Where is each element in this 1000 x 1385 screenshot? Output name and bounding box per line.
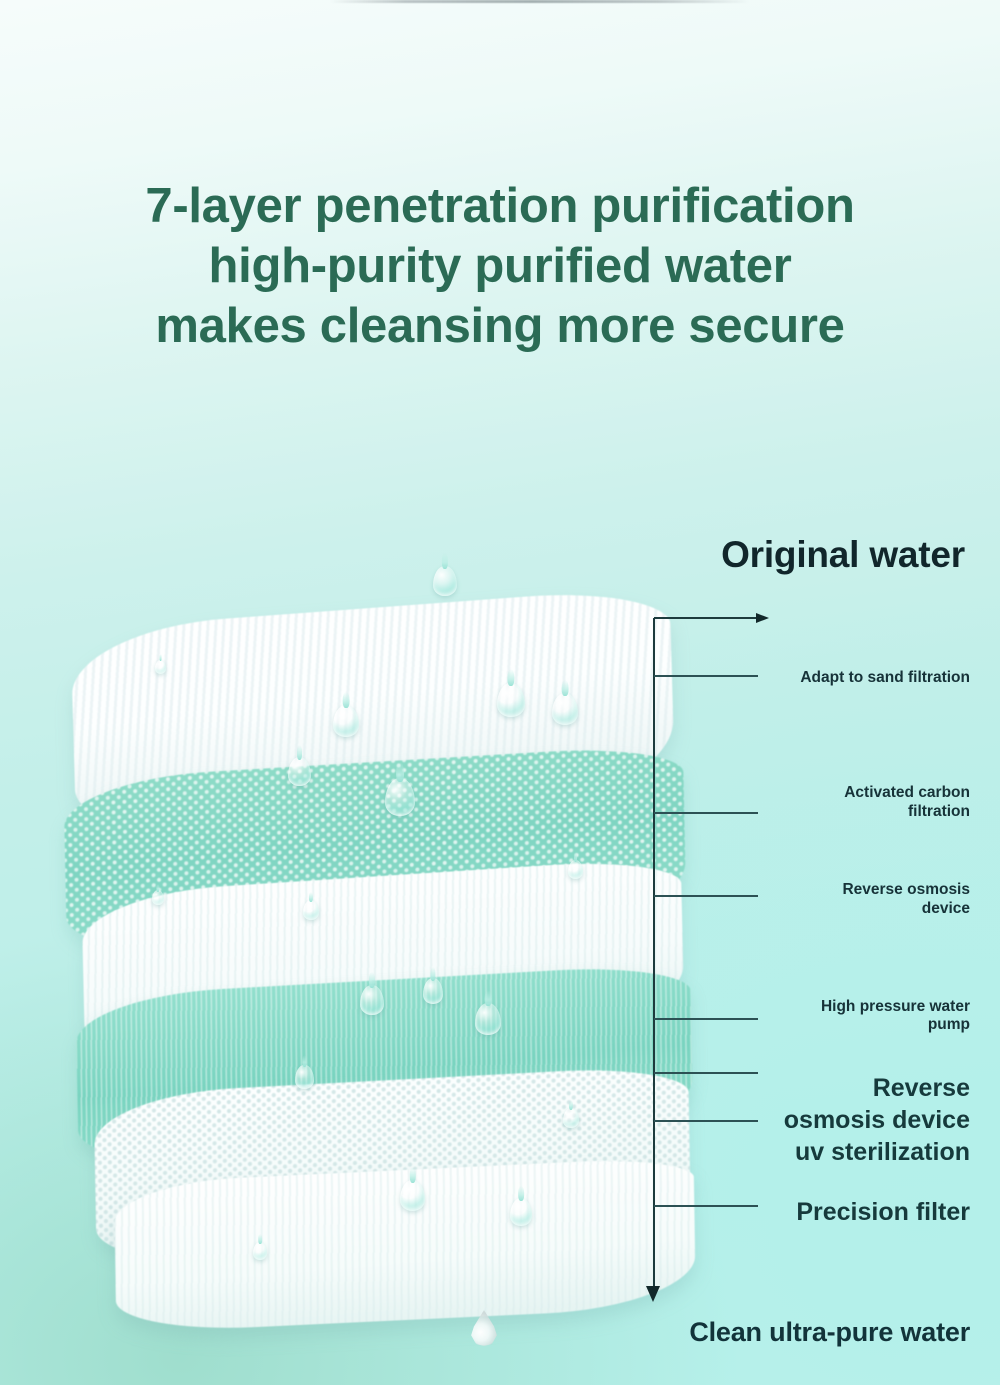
water-droplet-icon <box>253 1242 267 1260</box>
inflow-arrow-icon <box>654 617 758 619</box>
water-droplet-icon <box>333 705 359 737</box>
poster-canvas: 7-layer penetration purification high-pu… <box>0 0 1000 1385</box>
page-title-line-1: 7-layer penetration purification <box>0 176 1000 236</box>
water-droplet-icon <box>552 693 578 725</box>
label-original-water: Original water <box>520 533 965 577</box>
label-sand-filtration: Adapt to sand filtration <box>600 668 970 688</box>
water-droplet-icon <box>510 1198 532 1226</box>
label-uv-line-2: osmosis device <box>600 1104 970 1136</box>
water-droplet-icon <box>152 890 164 905</box>
top-edge-seam <box>330 0 750 3</box>
water-droplet-icon <box>400 1180 425 1211</box>
page-title-line-2: high-purity purified water <box>0 236 1000 296</box>
label-high-pressure-water-pump: High pressure water pump <box>600 998 970 1034</box>
label-sand-filtration-text: Adapt to sand filtration <box>800 669 970 686</box>
diagram-axis <box>653 618 655 1290</box>
water-droplet-icon <box>497 683 525 717</box>
wipe-stack-illustration <box>55 560 695 1320</box>
water-droplet-icon <box>155 660 166 674</box>
outflow-arrow-icon <box>646 1286 660 1302</box>
label-ro-line-1: Reverse osmosis <box>600 880 970 899</box>
water-droplet-icon <box>303 900 319 920</box>
label-carbon-line-2: filtration <box>600 802 970 821</box>
page-title: 7-layer penetration purification high-pu… <box>0 176 1000 356</box>
water-droplet-icon <box>563 1108 579 1128</box>
label-uv-line-3: uv sterilization <box>600 1136 970 1168</box>
label-pump-line-1: High pressure water <box>600 998 970 1016</box>
label-ro-line-2: device <box>600 899 970 918</box>
label-precision-filter: Precision filter <box>600 1196 970 1228</box>
label-uv-line-1: Reverse <box>600 1072 970 1104</box>
water-droplet-icon <box>288 757 311 786</box>
water-droplet-icon <box>433 566 457 596</box>
label-carbon-line-1: Activated carbon <box>600 783 970 802</box>
page-title-line-3: makes cleansing more secure <box>0 296 1000 356</box>
label-pump-line-2: pump <box>600 1016 970 1034</box>
water-droplet-icon <box>475 1003 501 1035</box>
label-reverse-osmosis-device: Reverse osmosis device <box>600 880 970 918</box>
water-droplet-icon <box>295 1065 314 1089</box>
caption-clean-ultra-pure-water: Clean ultra-pure water <box>470 1315 970 1349</box>
water-droplet-icon <box>360 985 384 1015</box>
water-droplet-icon <box>568 860 583 879</box>
label-activated-carbon-filtration: Activated carbon filtration <box>600 783 970 821</box>
water-droplet-icon <box>423 978 443 1004</box>
label-uv-sterilization: Reverse osmosis device uv sterilization <box>600 1072 970 1168</box>
